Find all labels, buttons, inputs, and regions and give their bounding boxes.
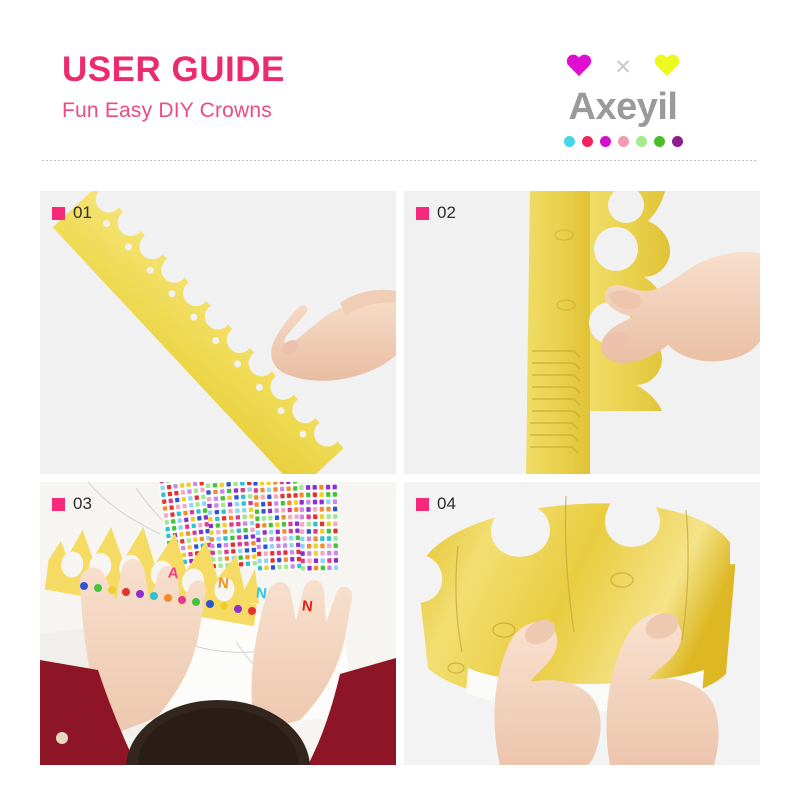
step-badge-03: 03 — [52, 494, 92, 514]
header-divider — [42, 160, 758, 161]
step-badge-02: 02 — [416, 203, 456, 223]
step-panel-03: A N N N 03 — [40, 482, 396, 765]
step-01-illustration — [40, 191, 396, 474]
brand-dot — [582, 136, 593, 147]
step-number: 04 — [437, 494, 456, 514]
step-number: 01 — [73, 203, 92, 223]
heart-icon — [654, 55, 680, 79]
crown-letter: N — [301, 597, 314, 615]
step-number: 03 — [73, 494, 92, 514]
step-panel-01: 01 — [40, 191, 396, 474]
step-badge-04: 04 — [416, 494, 456, 514]
step-panel-02: 02 — [404, 191, 760, 474]
title-block: USER GUIDE Fun Easy DIY Crowns — [62, 52, 285, 123]
crown-letter: N — [255, 584, 268, 602]
step-03-illustration: A N N N — [40, 482, 396, 765]
heart-icon — [566, 55, 592, 79]
sticker-sheets — [158, 482, 340, 572]
steps-grid: 01 — [40, 191, 760, 765]
page-header: USER GUIDE Fun Easy DIY Crowns ✕ Axeyil — [0, 0, 800, 165]
crown-letter: A — [167, 564, 180, 582]
brand-logo: ✕ Axeyil — [548, 48, 698, 158]
square-badge-icon — [52, 498, 65, 511]
brand-dot — [600, 136, 611, 147]
brand-name: Axeyil — [548, 88, 698, 128]
step-02-svg — [404, 191, 760, 474]
brand-dot — [636, 136, 647, 147]
logo-marks: ✕ — [548, 48, 698, 86]
brand-dot — [672, 136, 683, 147]
brand-dot — [654, 136, 665, 147]
brand-dot — [618, 136, 629, 147]
square-badge-icon — [416, 498, 429, 511]
step-02-illustration — [404, 191, 760, 474]
brand-dot — [564, 136, 575, 147]
step-01-svg — [40, 191, 396, 474]
step-03-svg — [40, 482, 396, 765]
step-badge-01: 01 — [52, 203, 92, 223]
page-subtitle: Fun Easy DIY Crowns — [62, 99, 285, 123]
square-badge-icon — [52, 207, 65, 220]
brand-color-dots — [548, 136, 698, 147]
crown-letter: N — [217, 574, 230, 592]
square-badge-icon — [416, 207, 429, 220]
step-panel-04: 04 — [404, 482, 760, 765]
step-04-illustration — [404, 482, 760, 765]
step-04-svg — [404, 482, 760, 765]
user-guide-page: USER GUIDE Fun Easy DIY Crowns ✕ Axeyil — [0, 0, 800, 800]
step-number: 02 — [437, 203, 456, 223]
x-icon: ✕ — [614, 57, 632, 78]
page-title: USER GUIDE — [62, 52, 285, 89]
